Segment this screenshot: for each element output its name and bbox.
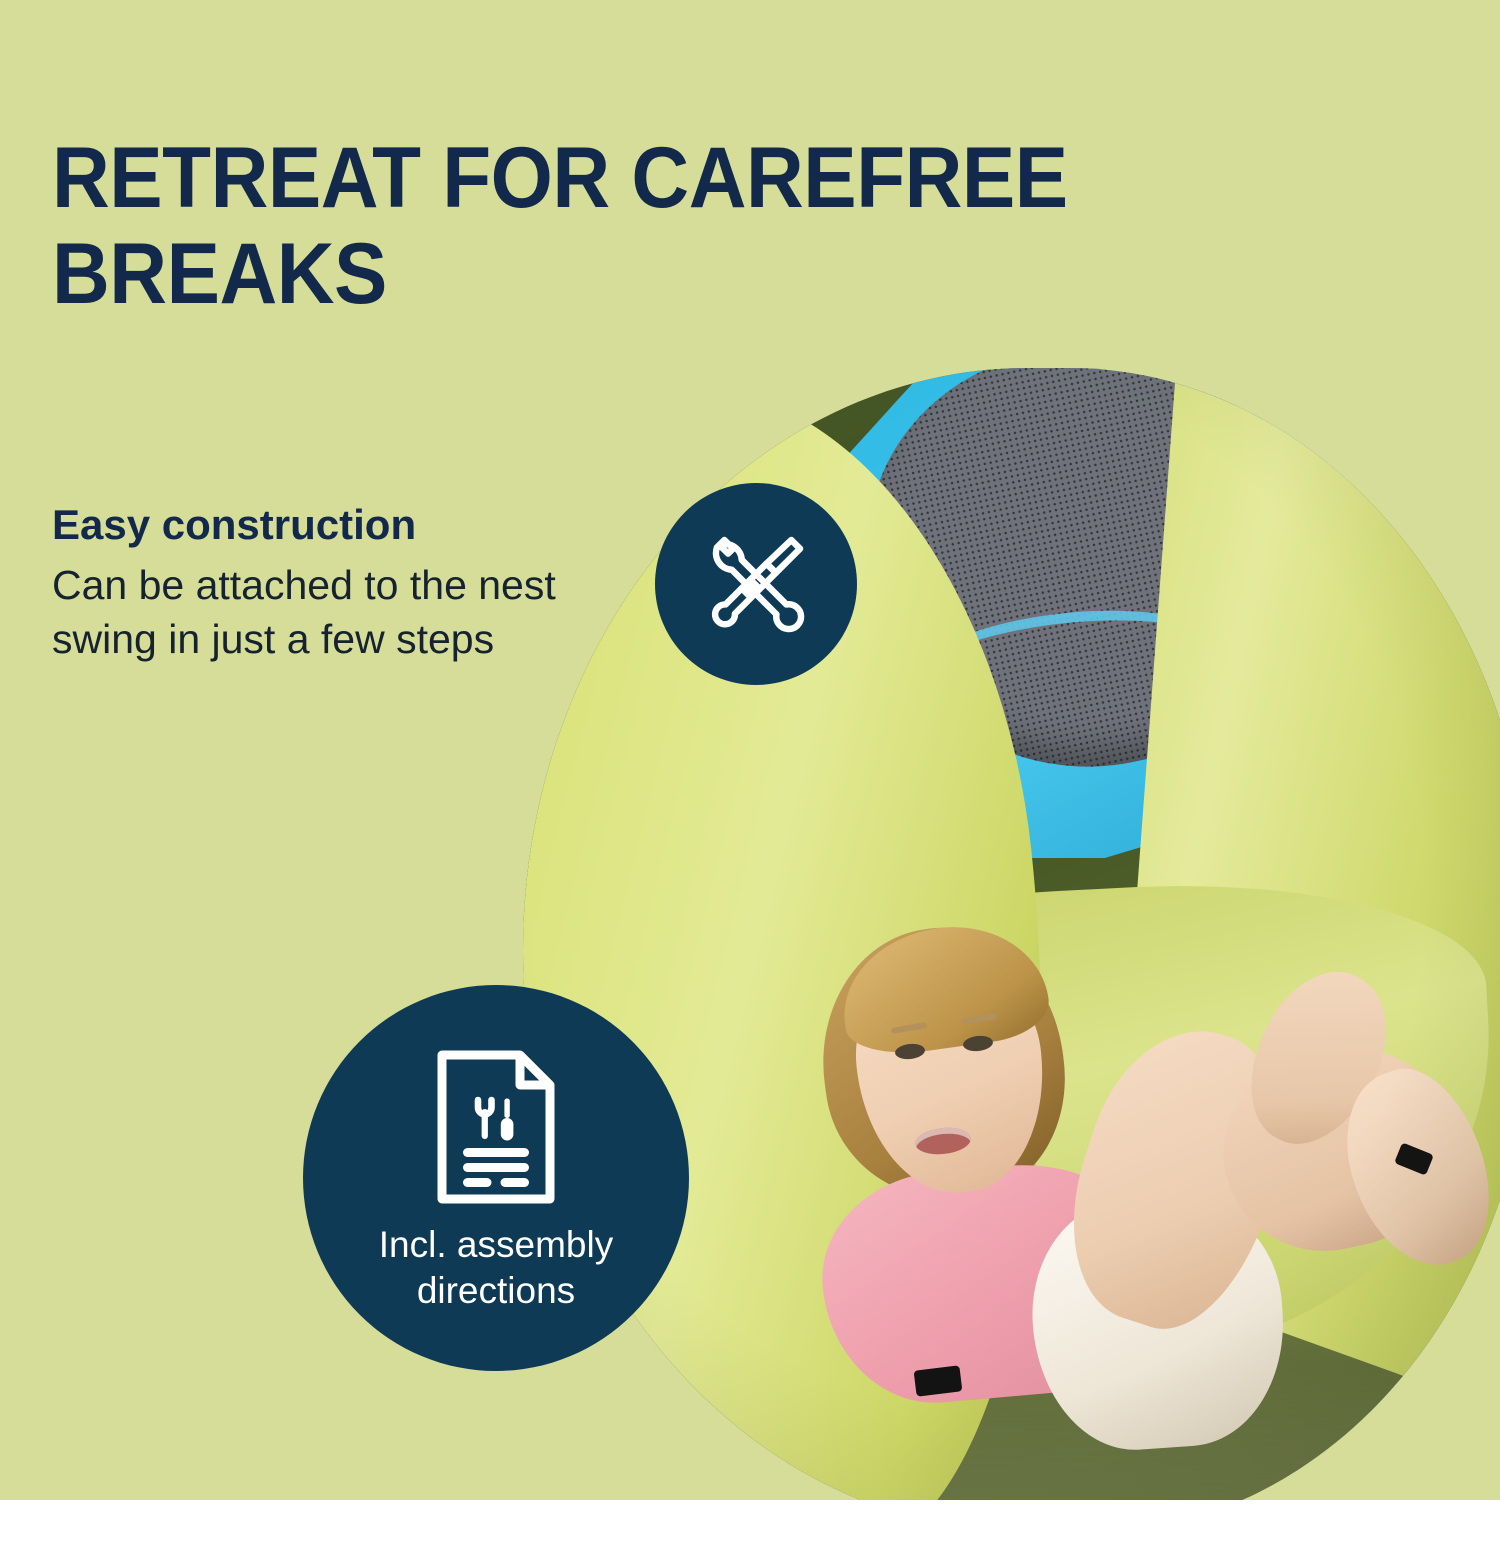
tools-crossed-icon xyxy=(694,522,818,646)
tent-buckle-lower xyxy=(914,1365,963,1396)
feature-text-block: Easy construction Can be attached to the… xyxy=(52,500,622,667)
feature-title: Easy construction xyxy=(52,500,622,550)
page-title: RETREAT FOR CAREFREE BREAKS xyxy=(52,130,1149,323)
badge-assembly-caption: Incl. assembly directions xyxy=(336,1222,656,1314)
footer-whitespace xyxy=(0,1500,1500,1562)
badge-assembly-directions: Incl. assembly directions xyxy=(303,985,689,1371)
assembly-manual-document-icon xyxy=(433,1048,559,1206)
feature-description: Can be attached to the nest swing in jus… xyxy=(52,558,622,668)
product-feature-poster: RETREAT FOR CAREFREE BREAKS Easy constru… xyxy=(0,0,1500,1500)
badge-easy-construction xyxy=(655,483,857,685)
